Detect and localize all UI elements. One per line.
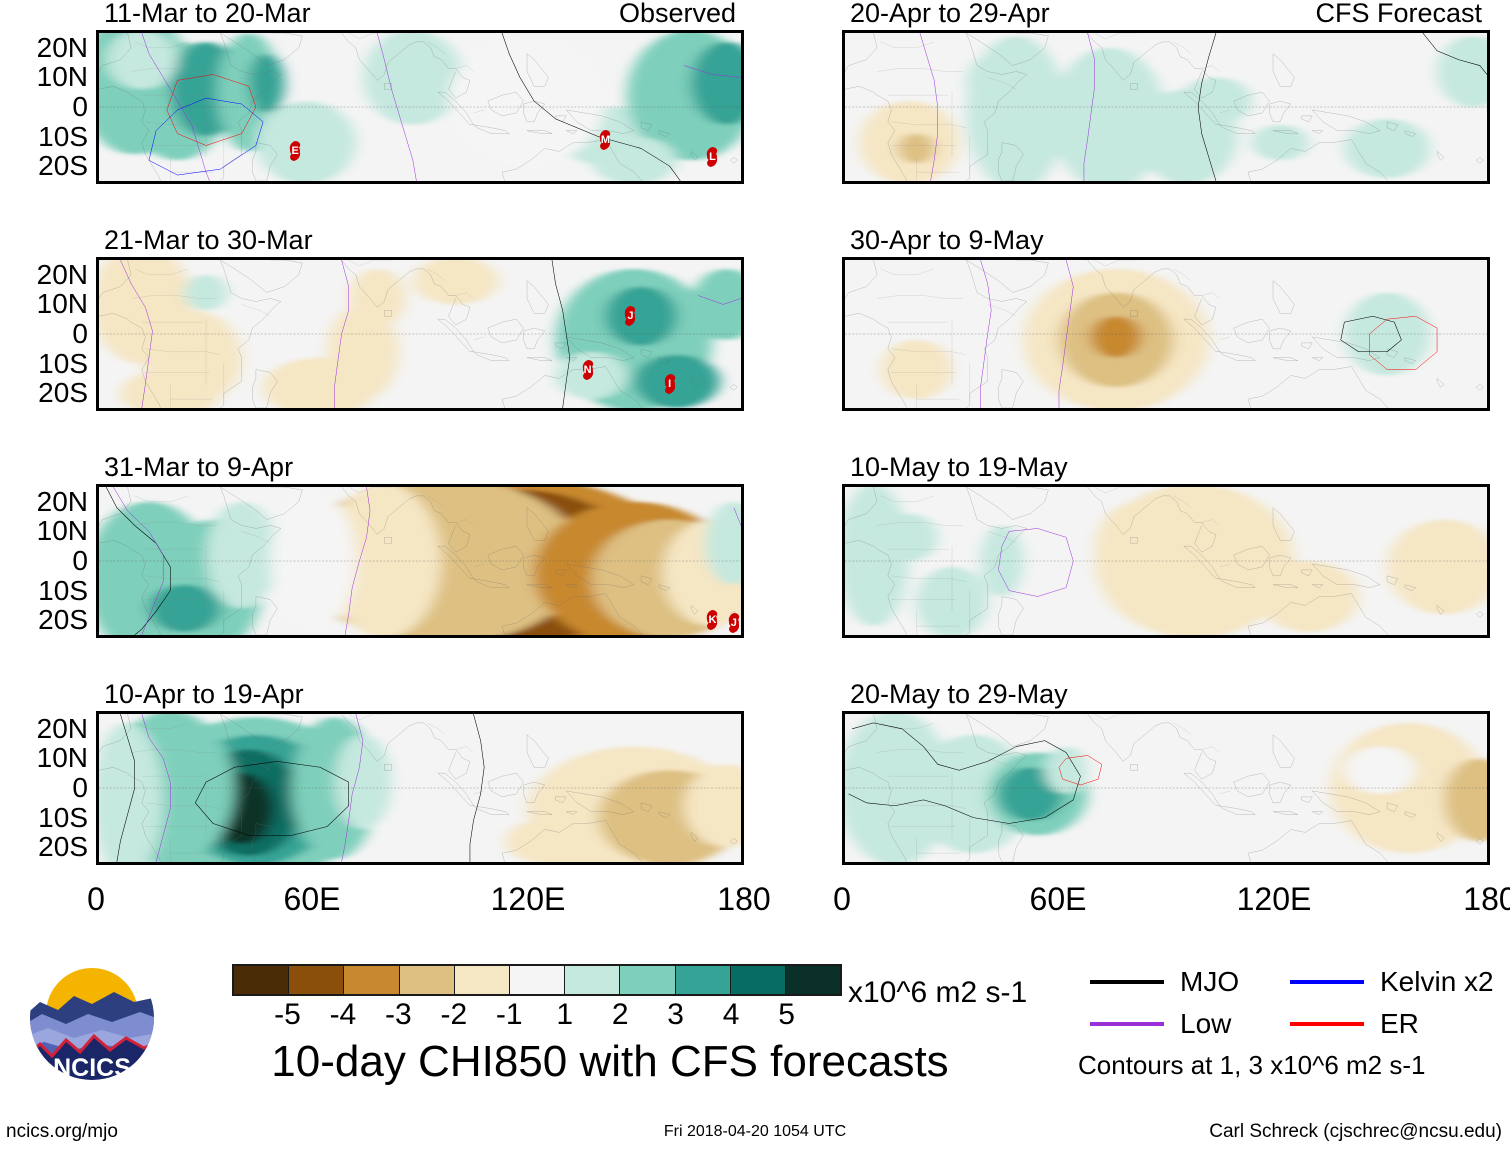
panel-title-obs3: 31-Mar to 9-Apr	[104, 454, 293, 481]
panel-title-fc3: 10-May to 19-May	[850, 454, 1068, 481]
legend-line-mjo	[1090, 980, 1164, 984]
storm-marker: L	[702, 145, 722, 169]
y-tick-label: 10S	[0, 350, 88, 378]
panel-title-obs4: 10-Apr to 19-Apr	[104, 681, 304, 708]
colorbar-segment	[620, 966, 675, 994]
y-tick-label: 10N	[0, 290, 88, 318]
legend-line-low	[1090, 1022, 1164, 1026]
contour-note: Contours at 1, 3 x10^6 m2 s-1	[1078, 1052, 1425, 1078]
panel-title-fc2: 30-Apr to 9-May	[850, 227, 1044, 254]
colorbar-tick-label: -5	[262, 1000, 312, 1030]
colorbar-segment	[400, 966, 455, 994]
map-obs1: EML	[96, 30, 744, 184]
x-tick-label: 180	[1463, 883, 1510, 915]
storm-marker: N	[578, 358, 598, 382]
y-tick-label: 20N	[0, 488, 88, 516]
y-tick-label: 20S	[0, 606, 88, 634]
map-fc1	[842, 30, 1490, 184]
legend-line-kelvin-x2	[1290, 980, 1364, 984]
storm-label: J	[724, 611, 744, 635]
map-field-obs3	[99, 487, 741, 635]
legend-label: Low	[1180, 1010, 1231, 1038]
x-tick-label: 180	[717, 883, 770, 915]
y-tick-label: 10N	[0, 63, 88, 91]
colorbar-segment	[510, 966, 565, 994]
storm-marker: J	[724, 611, 744, 635]
colorbar-tick-label: -1	[484, 1000, 534, 1030]
storm-marker: K	[702, 608, 722, 632]
panel-title-obs2: 21-Mar to 30-Mar	[104, 227, 313, 254]
map-field-fc4	[845, 714, 1487, 862]
storm-marker: J	[620, 304, 640, 328]
storm-marker: M	[595, 128, 615, 152]
map-field-obs4	[99, 714, 741, 862]
panel-title-fc4: 20-May to 29-May	[850, 681, 1068, 708]
y-tick-label: 20N	[0, 715, 88, 743]
storm-label: L	[702, 145, 722, 169]
y-tick-label: 20N	[0, 261, 88, 289]
map-fc4	[842, 711, 1490, 865]
colorbar-segment	[289, 966, 344, 994]
page-title: 10-day CHI850 with CFS forecasts	[200, 1040, 1020, 1084]
colorbar-segment	[676, 966, 731, 994]
storm-marker: E	[285, 139, 305, 163]
map-field-fc3	[845, 487, 1487, 635]
storm-label: J	[620, 304, 640, 328]
y-tick-label: 20S	[0, 379, 88, 407]
y-tick-label: 0	[0, 93, 88, 121]
map-obs4	[96, 711, 744, 865]
colorbar-unit-label: x10^6 m2 s-1	[848, 978, 1027, 1008]
y-tick-label: 0	[0, 774, 88, 802]
colorbar-tick-label: 3	[651, 1000, 701, 1030]
storm-label: I	[660, 372, 680, 396]
x-tick-label: 0	[87, 883, 105, 915]
legend-line-er	[1290, 1022, 1364, 1026]
y-tick-label: 10S	[0, 123, 88, 151]
colorbar-tick-label: -4	[318, 1000, 368, 1030]
map-fc3	[842, 484, 1490, 638]
map-field-fc2	[845, 260, 1487, 408]
y-tick-label: 10S	[0, 804, 88, 832]
colorbar-tick-label: 5	[762, 1000, 812, 1030]
colorbar-tick-label: 2	[595, 1000, 645, 1030]
y-tick-label: 10S	[0, 577, 88, 605]
x-tick-label: 60E	[1030, 883, 1087, 915]
x-tick-label: 120E	[491, 883, 566, 915]
map-field-obs1	[99, 33, 741, 181]
y-tick-label: 20N	[0, 34, 88, 62]
panel-title-obs1: 11-Mar to 20-Mar	[104, 0, 311, 27]
storm-label: K	[702, 608, 722, 632]
legend-label: Kelvin x2	[1380, 968, 1494, 996]
legend-label: MJO	[1180, 968, 1239, 996]
x-tick-label: 120E	[1237, 883, 1312, 915]
y-tick-label: 10N	[0, 517, 88, 545]
colorbar-tick-label: -2	[429, 1000, 479, 1030]
colorbar-segment	[344, 966, 399, 994]
logo-text: NCICS	[53, 1054, 131, 1082]
map-field-obs2	[99, 260, 741, 408]
colorbar-segment	[565, 966, 620, 994]
colorbar-segment	[731, 966, 786, 994]
column-header-left: Observed	[619, 0, 736, 27]
colorbar-tick-label: 1	[540, 1000, 590, 1030]
storm-label: M	[595, 128, 615, 152]
colorbar-tick-label: 4	[706, 1000, 756, 1030]
y-tick-label: 20S	[0, 152, 88, 180]
storm-label: E	[285, 139, 305, 163]
footer-author: Carl Schreck (cjschrec@ncsu.edu)	[1209, 1122, 1502, 1141]
map-obs3: KJ	[96, 484, 744, 638]
ncics-logo: NCICS	[22, 952, 162, 1092]
y-tick-label: 10N	[0, 744, 88, 772]
storm-label: N	[578, 358, 598, 382]
colorbar-segment	[455, 966, 510, 994]
map-obs2: JNI	[96, 257, 744, 411]
colorbar	[232, 964, 842, 996]
legend-label: ER	[1380, 1010, 1419, 1038]
colorbar-segment	[786, 966, 840, 994]
column-header-right: CFS Forecast	[1315, 0, 1482, 27]
x-tick-label: 0	[833, 883, 851, 915]
y-tick-label: 0	[0, 320, 88, 348]
colorbar-segment	[234, 966, 289, 994]
x-tick-label: 60E	[284, 883, 341, 915]
y-tick-label: 20S	[0, 833, 88, 861]
storm-marker: I	[660, 372, 680, 396]
panel-title-fc1: 20-Apr to 29-Apr	[850, 0, 1050, 27]
map-field-fc1	[845, 33, 1487, 181]
map-fc2	[842, 257, 1490, 411]
y-tick-label: 0	[0, 547, 88, 575]
colorbar-tick-label: -3	[373, 1000, 423, 1030]
